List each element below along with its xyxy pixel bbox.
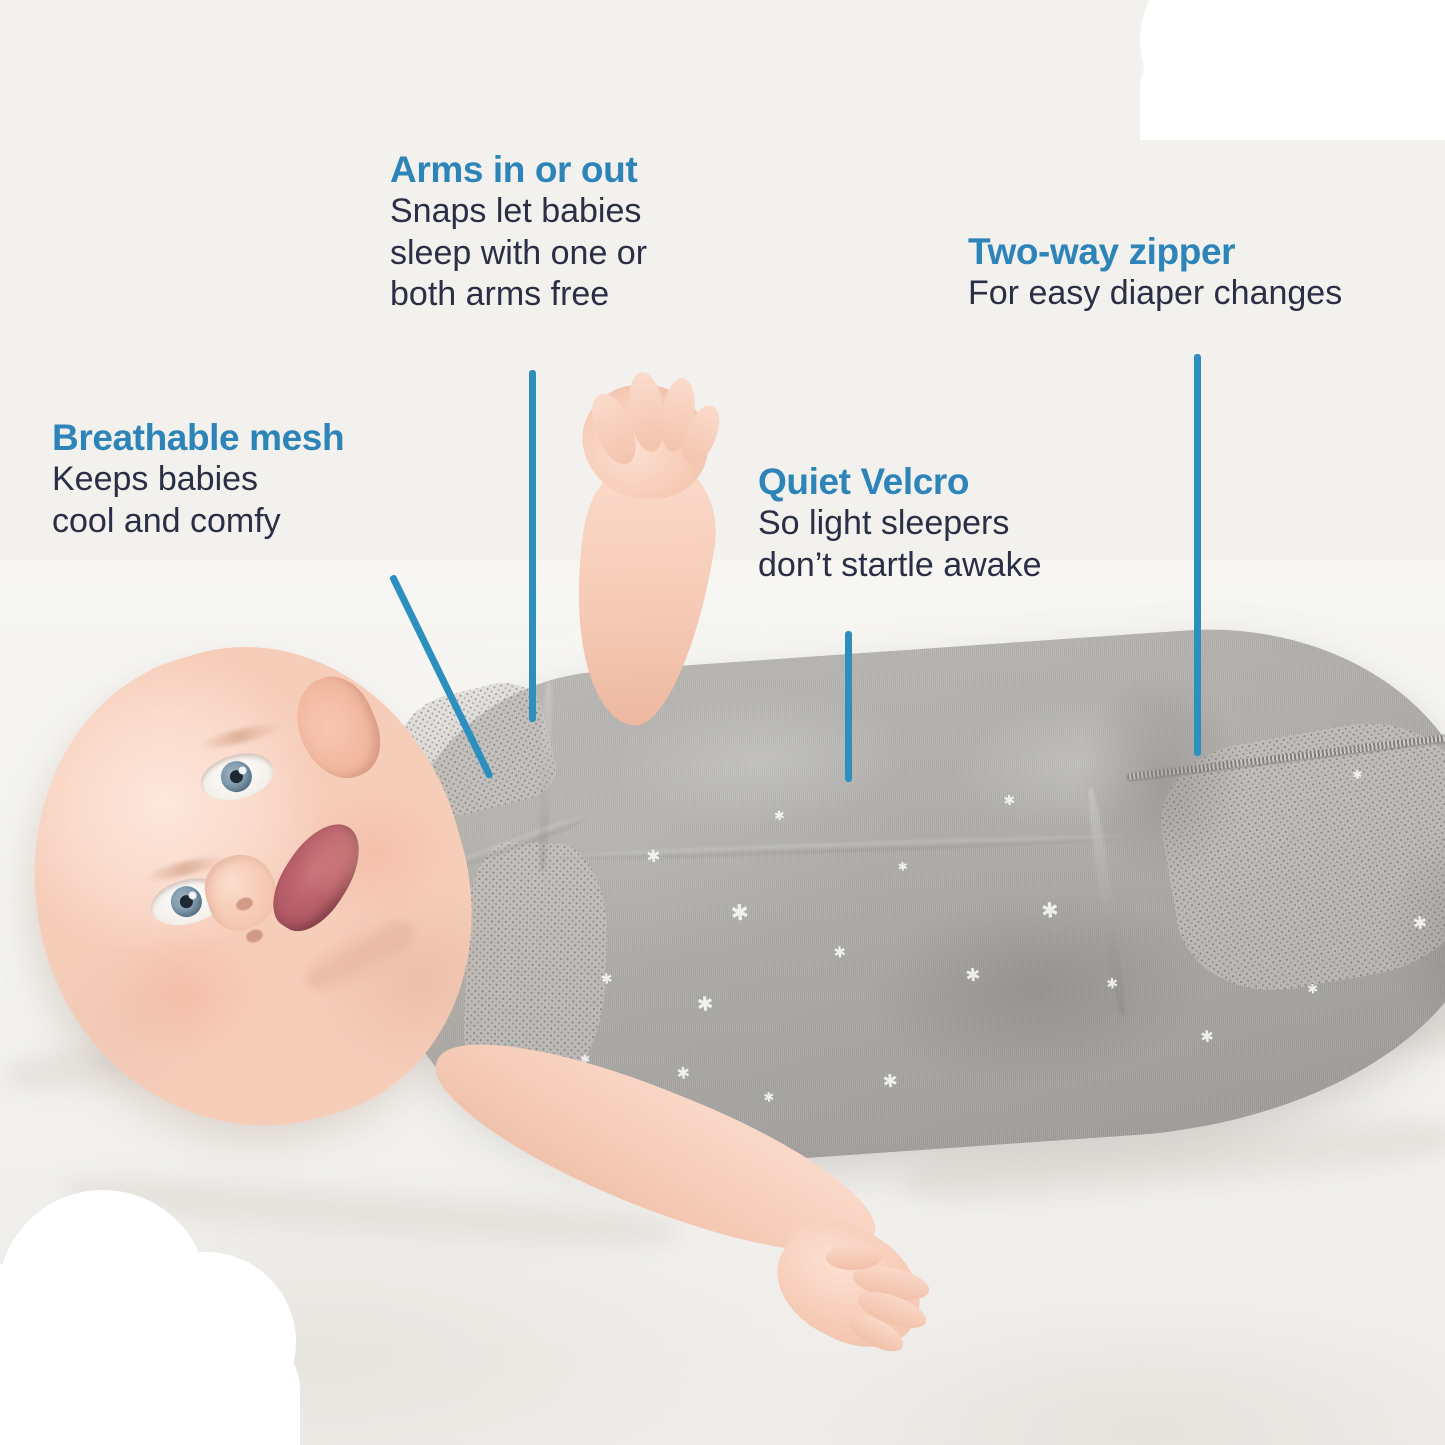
callout-body: For easy diaper changes [968, 273, 1342, 314]
star-print: ✱ [833, 945, 847, 961]
star-print: ✱ [763, 1090, 775, 1104]
callout-body-line: cool and comfy [52, 501, 344, 542]
callout-body-line: For easy diaper changes [968, 273, 1342, 314]
callout-body-line: don’t startle awake [758, 545, 1042, 586]
infographic-canvas: ✱ ✱ ✱ ✱ ✱ ✱ ✱ ✱ ✱ ✱ ✱ ✱ ✱ ✱ ✱ ✱ ✱ ✱ ✱ ✱ [0, 0, 1445, 1445]
star-print: ✱ [1106, 976, 1119, 991]
star-print: ✱ [676, 1066, 690, 1083]
star-print: ✱ [1352, 768, 1363, 781]
callout-body-line: sleep with one or [390, 233, 647, 274]
baby-cheek [300, 790, 450, 918]
star-print: ✱ [646, 848, 661, 866]
star-print: ✱ [965, 966, 981, 985]
star-print: ✱ [1003, 793, 1016, 808]
star-print: ✱ [897, 860, 908, 873]
callout-body-line: So light sleepers [758, 503, 1042, 544]
star-print: ✱ [882, 1072, 898, 1091]
callout-heading: Breathable mesh [52, 418, 344, 457]
star-print: ✱ [773, 809, 785, 823]
callout-body: Keeps babies cool and comfy [52, 459, 344, 542]
callout-body: Snaps let babies sleep with one or both … [390, 191, 647, 315]
callout-heading: Arms in or out [390, 150, 647, 189]
star-print: ✱ [600, 971, 613, 986]
callout-heading: Two-way zipper [968, 232, 1342, 271]
callout-body-line: both arms free [390, 274, 647, 315]
star-print: ✱ [696, 994, 714, 1015]
star-print: ✱ [1412, 914, 1427, 932]
callout-arms-in-or-out: Arms in or out Snaps let babies sleep wi… [390, 150, 647, 316]
callout-body-line: Snaps let babies [390, 191, 647, 232]
callout-body-line: Keeps babies [52, 459, 344, 500]
callout-quiet-velcro: Quiet Velcro So light sleepers don’t sta… [758, 462, 1042, 586]
callout-breathable-mesh: Breathable mesh Keeps babies cool and co… [52, 418, 344, 542]
product-photo: ✱ ✱ ✱ ✱ ✱ ✱ ✱ ✱ ✱ ✱ ✱ ✱ ✱ ✱ ✱ ✱ ✱ ✱ ✱ ✱ [0, 0, 1445, 1445]
star-print: ✱ [1200, 1029, 1214, 1046]
leader-line-arms-in-or-out [529, 370, 536, 722]
star-print: ✱ [1040, 900, 1059, 922]
callout-two-way-zipper: Two-way zipper For easy diaper changes [968, 232, 1342, 315]
callout-body: So light sleepers don’t startle awake [758, 503, 1042, 586]
baby-cheek [110, 930, 260, 1058]
leader-line-two-way-zipper [1194, 354, 1201, 756]
leader-line-quiet-velcro [845, 631, 852, 782]
callout-heading: Quiet Velcro [758, 462, 1042, 501]
star-print: ✱ [1307, 982, 1319, 996]
star-print: ✱ [730, 902, 750, 925]
